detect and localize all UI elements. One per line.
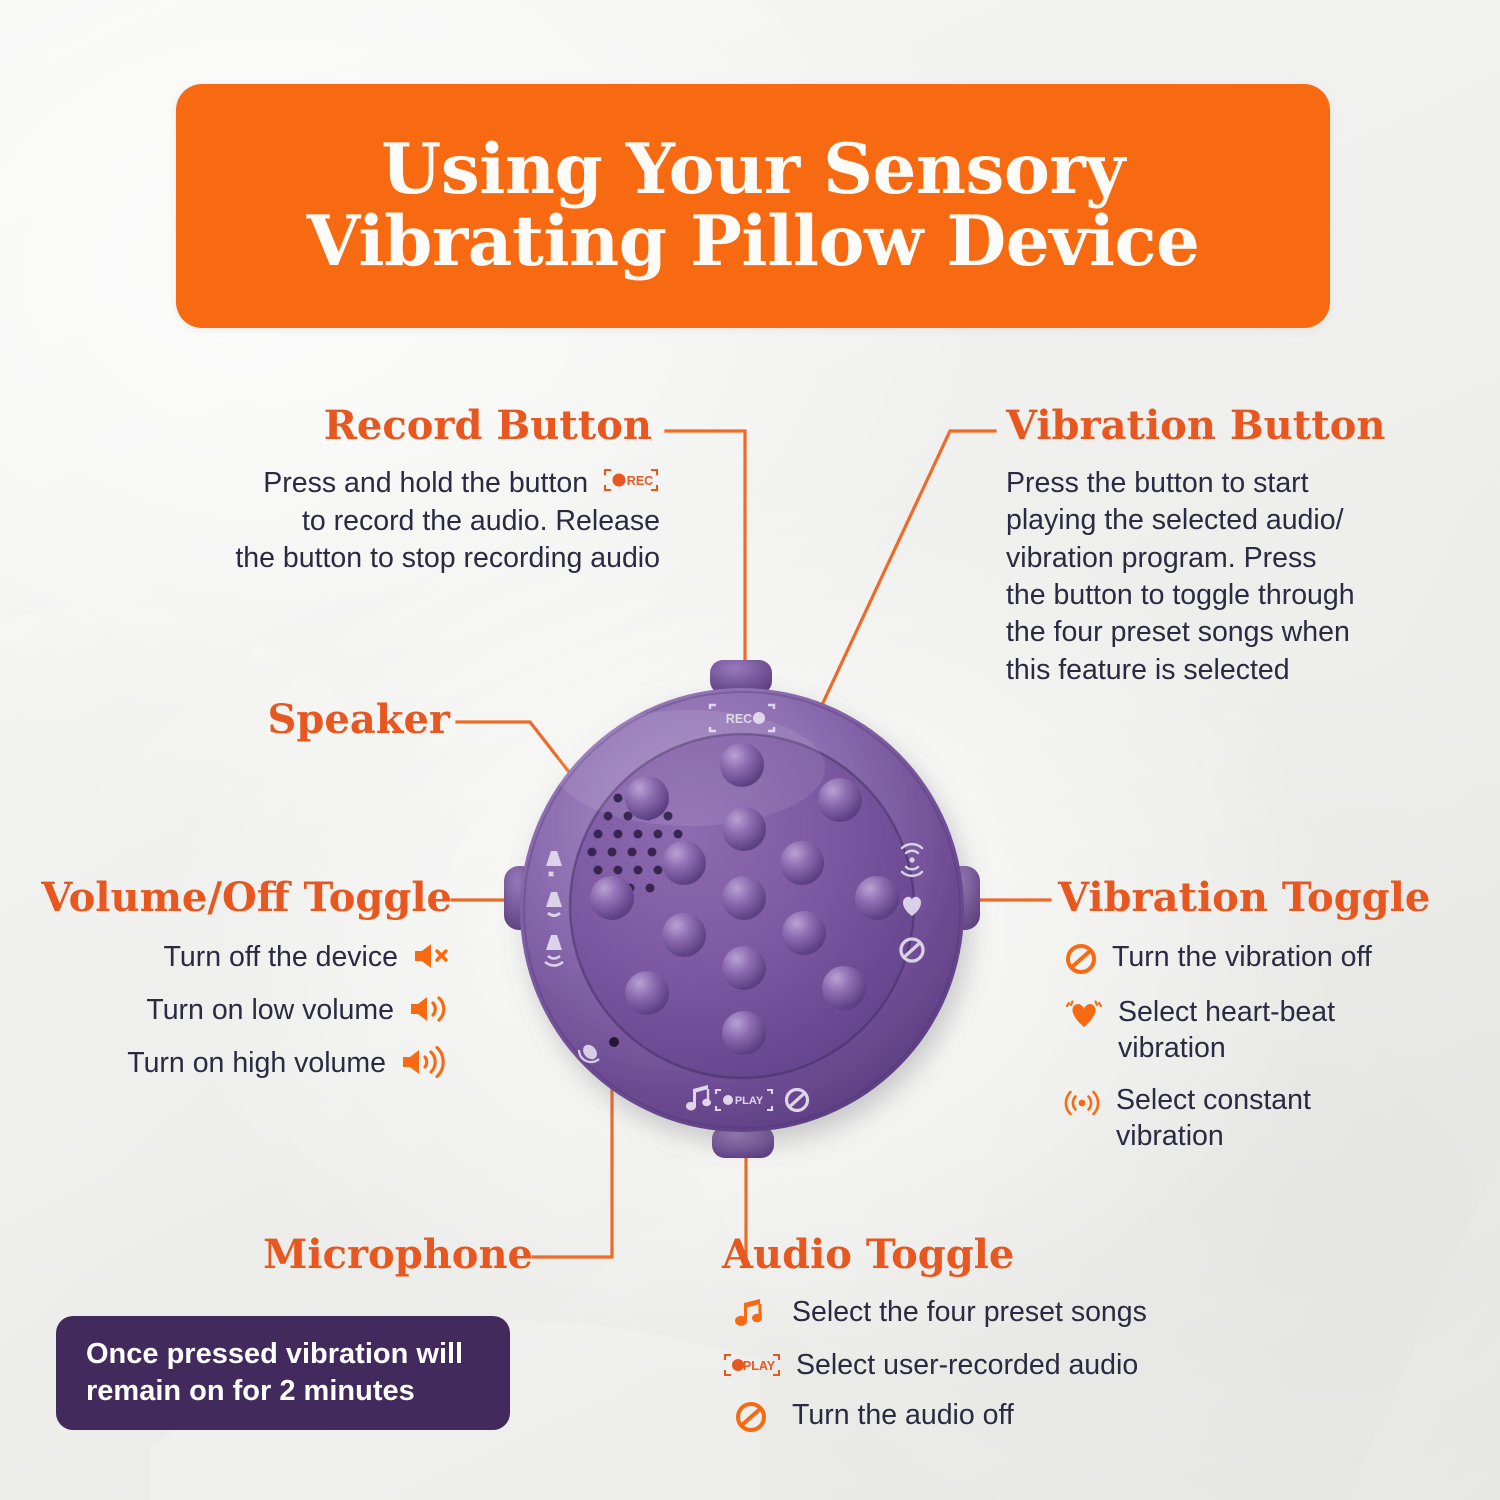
vibration-toggle-item-label: Select constant vibration [1116, 1083, 1416, 1155]
callout-vibration-toggle: Vibration Toggle Turn the vibration off … [1058, 878, 1458, 1155]
volume-toggle-item-label: Turn on low volume [146, 993, 394, 1029]
audio-toggle-item-label: Select user-recorded audio [796, 1348, 1138, 1384]
audio-toggle-item-label: Turn the audio off [792, 1398, 1014, 1434]
volume-toggle-item: Turn off the device [40, 940, 452, 977]
vibration-toggle-item: Select constant vibration [1058, 1083, 1458, 1155]
vibration-toggle-item: Select heart-beat vibration [1058, 995, 1458, 1067]
vibration-toggle-item: Turn the vibration off [1058, 940, 1458, 981]
svg-text:PLAY: PLAY [743, 1359, 776, 1373]
callout-vibration-button: Vibration Button Press the button to sta… [1006, 406, 1456, 689]
audio-toggle-item: Select the four preset songs [722, 1295, 1282, 1334]
speaker-high-volume-icon [400, 1046, 452, 1083]
vibration-toggle-item-label: Turn the vibration off [1112, 940, 1372, 976]
audio-toggle-title: Audio Toggle [722, 1235, 1282, 1275]
svg-text:REC: REC [627, 474, 653, 488]
note-line-1: Once pressed vibration will [86, 1336, 480, 1373]
callout-microphone: Microphone [250, 1235, 533, 1275]
prohibition-icon [734, 1400, 778, 1439]
pillow-device: REC PLAY [492, 648, 992, 1168]
vibration-text-line-1: Press the button to start [1006, 465, 1456, 502]
record-text-line3: the button to stop recording audio [60, 540, 660, 577]
callout-speaker: Speaker [180, 700, 450, 740]
play-badge-icon: PLAY [722, 1352, 782, 1383]
page-title-line-2: Vibrating Pillow Device [307, 206, 1200, 278]
page-title-banner: Using Your Sensory Vibrating Pillow Devi… [176, 84, 1330, 328]
rec-badge-icon: REC [602, 466, 660, 503]
audio-toggle-item: PLAY Select user-recorded audio [722, 1348, 1282, 1384]
vibration-text-line-2: playing the selected audio/ [1006, 502, 1456, 539]
volume-toggle-item-label: Turn on high volume [127, 1046, 386, 1082]
callout-audio-toggle: Audio Toggle Select the four preset song… [722, 1235, 1282, 1439]
callout-volume-off-toggle: Volume/Off Toggle Turn off the device Tu… [40, 878, 452, 1083]
music-note-icon [732, 1297, 778, 1334]
page-title-line-1: Using Your Sensory [381, 134, 1125, 206]
vibration-button-description: Press the button to start playing the se… [1006, 465, 1456, 689]
svg-text:PLAY: PLAY [735, 1095, 764, 1107]
vibration-text-line-3: vibration program. Press [1006, 540, 1456, 577]
microphone-title: Microphone [250, 1235, 533, 1275]
record-button-description: Press and hold the button REC to record … [60, 465, 660, 578]
speaker-title: Speaker [180, 700, 450, 740]
vibration-text-line-6: this feature is selected [1006, 652, 1456, 689]
vibration-button-title: Vibration Button [1006, 406, 1456, 446]
note-line-2: remain on for 2 minutes [86, 1373, 480, 1410]
vibration-text-line-5: the four preset songs when [1006, 614, 1456, 651]
vibration-duration-note: Once pressed vibration will remain on fo… [56, 1316, 510, 1430]
volume-toggle-title: Volume/Off Toggle [40, 878, 452, 918]
speaker-low-volume-icon [408, 993, 452, 1030]
record-button-title: Record Button [60, 406, 660, 446]
speaker-mute-icon [412, 940, 452, 977]
audio-toggle-item-label: Select the four preset songs [792, 1295, 1147, 1331]
constant-vibration-icon [1062, 1087, 1102, 1124]
prohibition-icon [1064, 942, 1098, 981]
svg-text:REC: REC [726, 712, 752, 726]
record-text-before: Press and hold the button [263, 467, 588, 499]
callout-record-button: Record Button Press and hold the button … [60, 406, 660, 578]
volume-toggle-item: Turn on high volume [40, 1046, 452, 1083]
audio-toggle-item: Turn the audio off [722, 1398, 1282, 1439]
heart-beat-icon [1064, 997, 1104, 1036]
vibration-toggle-title: Vibration Toggle [1058, 878, 1458, 918]
volume-toggle-item: Turn on low volume [40, 993, 452, 1030]
record-text-line2: to record the audio. Release [60, 503, 660, 540]
vibration-toggle-item-label: Select heart-beat vibration [1118, 995, 1418, 1067]
vibration-text-line-4: the button to toggle through [1006, 577, 1456, 614]
volume-toggle-item-label: Turn off the device [164, 940, 398, 976]
